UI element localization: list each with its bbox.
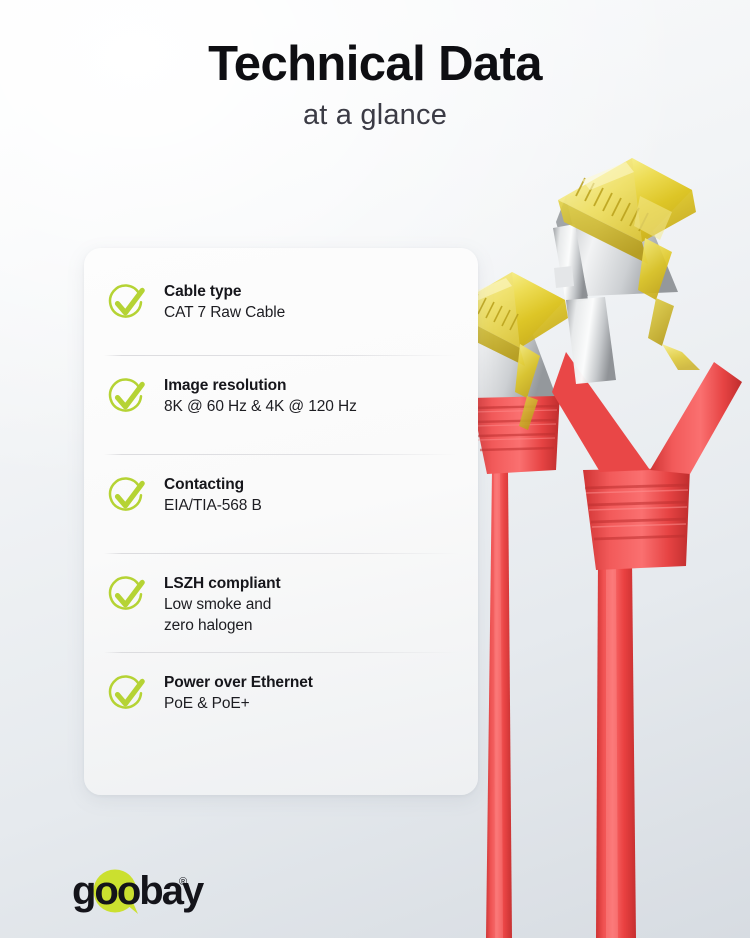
spec-list: Cable type CAT 7 Raw Cable Image resolut… [84, 248, 478, 737]
spec-text: Power over Ethernet PoE & PoE+ [164, 670, 313, 715]
spec-label: Cable type [164, 282, 285, 302]
header: Technical Data at a glance [0, 0, 750, 132]
spec-text: Cable type CAT 7 Raw Cable [164, 279, 285, 324]
spec-item-contacting: Contacting EIA/TIA-568 B [84, 455, 478, 539]
trademark-symbol: ® [179, 876, 187, 888]
spec-label: LSZH compliant [164, 574, 281, 594]
page-title: Technical Data [0, 38, 750, 91]
spec-text: Contacting EIA/TIA-568 B [164, 472, 262, 517]
check-circle-icon [104, 473, 150, 519]
spec-item-image-resolution: Image resolution 8K @ 60 Hz & 4K @ 120 H… [84, 356, 478, 440]
spec-value: PoE & PoE+ [164, 694, 313, 715]
check-circle-icon [104, 374, 150, 420]
page-subtitle: at a glance [0, 100, 750, 132]
infographic-canvas: Technical Data at a glance Cable type CA… [0, 0, 750, 938]
spec-item-lszh-compliant: LSZH compliant Low smoke and zero haloge… [84, 554, 478, 638]
spec-item-cable-type: Cable type CAT 7 Raw Cable [84, 257, 478, 341]
check-circle-icon [104, 280, 150, 326]
spec-label: Contacting [164, 475, 262, 495]
check-circle-icon [104, 671, 150, 717]
spec-value: 8K @ 60 Hz & 4K @ 120 Hz [164, 397, 357, 418]
check-circle-icon [104, 572, 150, 618]
spec-card: Cable type CAT 7 Raw Cable Image resolut… [84, 248, 478, 795]
spec-text: Image resolution 8K @ 60 Hz & 4K @ 120 H… [164, 373, 357, 418]
brand-logo: goobay ® [52, 868, 272, 916]
connector-right [552, 158, 742, 938]
spec-label: Image resolution [164, 376, 357, 396]
spec-value: EIA/TIA-568 B [164, 496, 262, 517]
spec-value: Low smoke and zero halogen [164, 595, 281, 637]
spec-text: LSZH compliant Low smoke and zero haloge… [164, 571, 281, 637]
spec-item-power-over-ethernet: Power over Ethernet PoE & PoE+ [84, 653, 478, 737]
spec-label: Power over Ethernet [164, 673, 313, 693]
spec-value: CAT 7 Raw Cable [164, 303, 285, 324]
